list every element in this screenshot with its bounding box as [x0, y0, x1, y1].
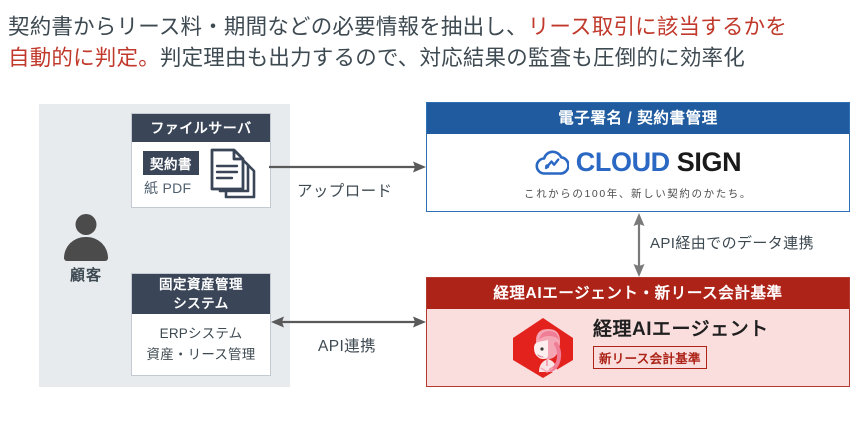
- file-server-card[interactable]: ファイルサーバ 契約書 紙 PDF: [131, 113, 271, 208]
- fixed-asset-body-line-2: 資産・リース管理: [132, 344, 270, 365]
- api-data-link-label: API経由でのデータ連携: [650, 232, 814, 253]
- headline-line-1-dark: 契約書からリース料・期間などの必要情報を抽出し、: [8, 15, 528, 39]
- cloudsign-tagline: これからの100年、新しい契約のかたち。: [427, 186, 849, 201]
- ai-agent-panel[interactable]: 経理AIエージェント・新リース会計基準 経理AIエージェント 新リース会計基準: [426, 277, 850, 387]
- arrow-both-horizontal-icon: [268, 315, 430, 329]
- file-server-card-header: ファイルサーバ: [132, 114, 270, 142]
- customer-actor: 顧客: [55, 214, 117, 285]
- cloudsign-panel-body: CLOUDSIGN これからの100年、新しい契約のかたち。: [427, 134, 849, 211]
- new-lease-standard-badge: 新リース会計基準: [593, 346, 707, 369]
- file-server-card-body: 契約書 紙 PDF: [132, 142, 270, 207]
- fixed-asset-body-line-1: ERPシステム: [132, 323, 270, 344]
- headline-line-2: 自動的に判定。判定理由も出力するので、対応結果の監査も圧倒的に効率化: [8, 43, 854, 74]
- contract-badge: 契約書: [143, 151, 199, 175]
- arrow-right-icon: [268, 160, 430, 174]
- fixed-asset-system-card-header: 固定資産管理 システム: [132, 274, 270, 314]
- ai-agent-panel-header: 経理AIエージェント・新リース会計基準: [427, 278, 849, 309]
- api-link-arrow-label: API連携: [318, 334, 376, 356]
- person-icon-body: [64, 237, 108, 261]
- fixed-asset-system-header-line-1: 固定資産管理: [132, 275, 270, 294]
- headline: 契約書からリース料・期間などの必要情報を抽出し、リース取引に該当するかを 自動的…: [8, 12, 854, 74]
- paper-pdf-label: 紙 PDF: [144, 178, 191, 198]
- document-stack-icon: [206, 147, 264, 203]
- cloudsign-logo-sign: SIGN: [677, 149, 741, 176]
- cloud-icon: [535, 150, 569, 176]
- cloudsign-panel[interactable]: 電子署名 / 契約書管理 CLOUDSIGN これからの100年、新しい契約のか…: [426, 102, 850, 212]
- arrow-both-vertical-icon: [632, 212, 646, 278]
- cloudsign-logo: CLOUDSIGN: [427, 149, 849, 176]
- fixed-asset-system-card[interactable]: 固定資産管理 システム ERPシステム 資産・リース管理: [131, 273, 271, 376]
- headline-line-1: 契約書からリース料・期間などの必要情報を抽出し、リース取引に該当するかを: [8, 12, 854, 43]
- fixed-asset-system-header-line-2: システム: [132, 294, 270, 313]
- ai-agent-title: 経理AIエージェント: [593, 318, 769, 342]
- upload-arrow-label: アップロード: [297, 179, 392, 201]
- fixed-asset-system-card-body: ERPシステム 資産・リース管理: [132, 314, 270, 375]
- cloudsign-panel-header: 電子署名 / 契約書管理: [427, 103, 849, 134]
- ai-agent-text-block: 経理AIエージェント 新リース会計基準: [593, 318, 769, 369]
- headline-line-2-red: 自動的に判定。: [8, 46, 160, 70]
- headline-line-2-dark: 判定理由も出力するので、対応結果の監査も圧倒的に効率化: [160, 46, 745, 70]
- customer-label: 顧客: [55, 264, 117, 285]
- headline-line-1-red: リース取引に該当するかを: [528, 15, 787, 39]
- person-icon: [59, 214, 113, 261]
- agent-diamond-avatar-icon: [509, 314, 577, 382]
- cloudsign-logo-cloud: CLOUD: [576, 149, 670, 176]
- person-icon-head: [76, 214, 97, 235]
- ai-agent-panel-body: 経理AIエージェント 新リース会計基準: [427, 309, 849, 386]
